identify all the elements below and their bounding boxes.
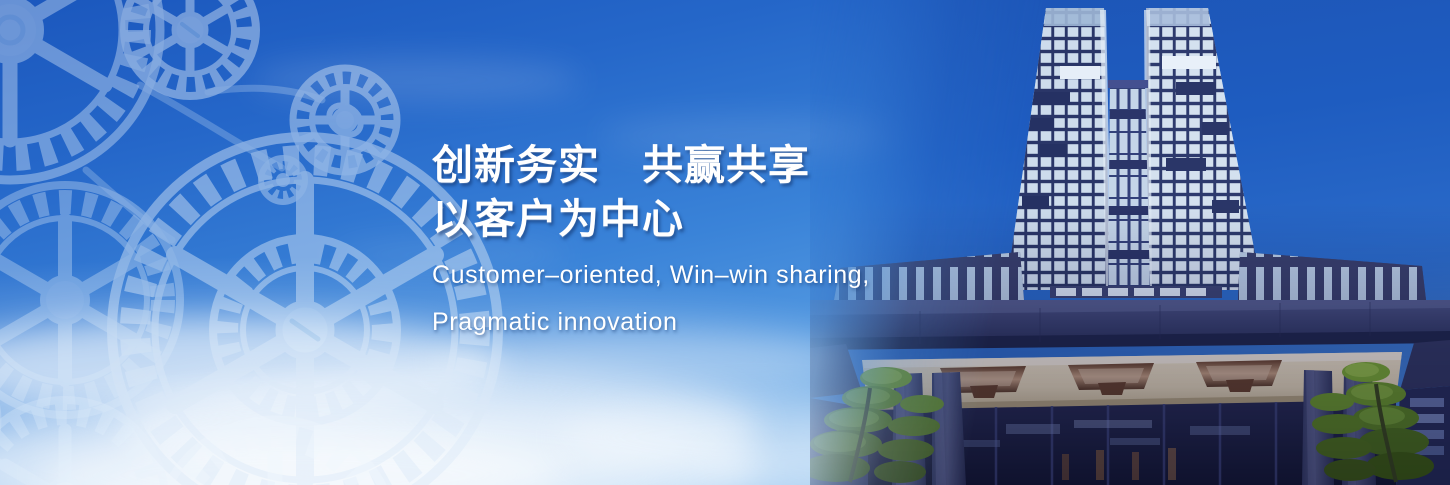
gear-linkage [86, 85, 322, 240]
headline-cn-line-1: 创新务实 共赢共享 [432, 138, 952, 192]
gear-icon-lowerleft [0, 400, 165, 485]
gear-icon-large-upper [0, 0, 160, 180]
gear-icon-tiny [261, 158, 305, 202]
banner-copy: 创新务实 共赢共享 以客户为中心 Customer–oriented, Win–… [432, 138, 952, 340]
cloud-wisp [120, 368, 760, 485]
cloud-wisp [250, 58, 580, 102]
subtitle-en-line-1: Customer–oriented, Win–win sharing, [432, 257, 952, 293]
cloud-wisp [0, 318, 500, 414]
gear-icon-small-topright [293, 68, 397, 172]
cloud-wisp [40, 430, 560, 485]
subtitle-en-line-2: Pragmatic innovation [432, 304, 952, 340]
hero-banner: 创新务实 共赢共享 以客户为中心 Customer–oriented, Win–… [0, 0, 1450, 485]
gear-icon-medium-top [124, 0, 256, 96]
headline-cn-line-2: 以客户为中心 [432, 192, 952, 246]
cloud-wisp [0, 396, 760, 485]
gear-icon-bottom [155, 420, 395, 485]
cornice-return-right [1400, 340, 1450, 390]
gear-icon-midleft [0, 185, 180, 415]
